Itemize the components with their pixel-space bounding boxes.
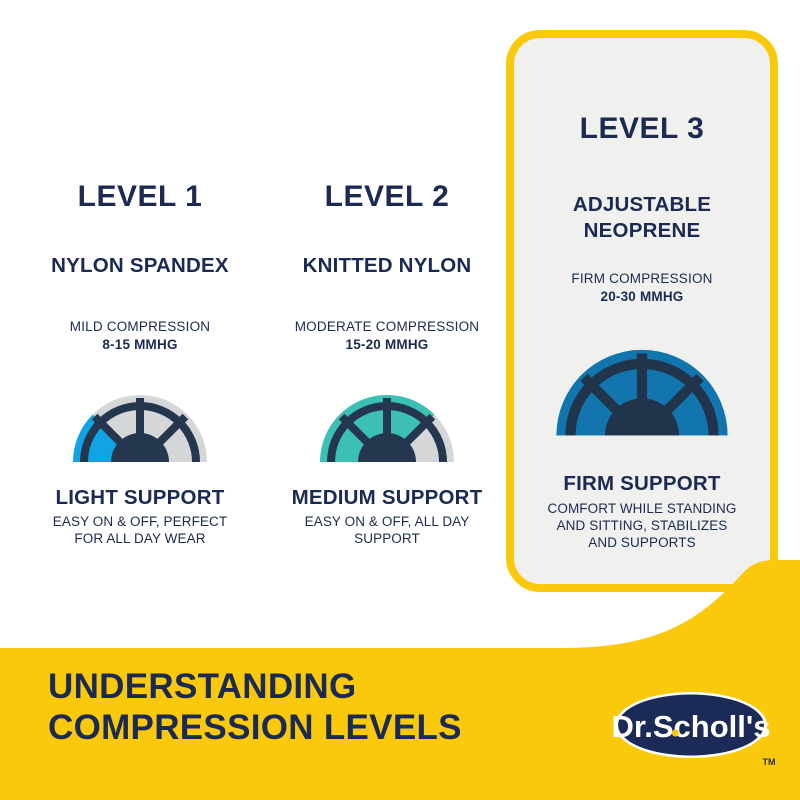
level-2-support-desc: EASY ON & OFF, ALL DAY SUPPORT <box>272 513 502 547</box>
level-2-title: LEVEL 2 <box>272 180 502 214</box>
logo-wordmark: Dr.Scholl's <box>612 709 770 744</box>
level-1-support-desc-line1: EASY ON & OFF, PERFECT <box>10 513 270 530</box>
banner-title-line2: COMPRESSION LEVELS <box>48 707 608 748</box>
dr-scholls-logo: Dr.Scholl's TM <box>612 690 780 768</box>
level-1-support-name: LIGHT SUPPORT <box>10 486 270 510</box>
level-2-compression-label: MODERATE COMPRESSION <box>272 318 502 336</box>
level-3-support-desc-line3: AND SUPPORTS <box>514 534 770 551</box>
level-1-support-desc: EASY ON & OFF, PERFECT FOR ALL DAY WEAR <box>10 513 270 547</box>
level-1-support-desc-line2: FOR ALL DAY WEAR <box>10 530 270 547</box>
gauge-3-baseline <box>556 435 727 438</box>
level-3-material-line1: ADJUSTABLE <box>514 193 770 217</box>
level-2-support-desc-line1: EASY ON & OFF, ALL DAY <box>272 513 502 530</box>
banner-title: UNDERSTANDING COMPRESSION LEVELS <box>48 666 608 748</box>
gauge-level-2 <box>320 392 454 464</box>
level-2-support-name: MEDIUM SUPPORT <box>272 486 502 510</box>
level-2-compression: MODERATE COMPRESSION 15-20 MMHG <box>272 318 502 354</box>
level-1-title: LEVEL 1 <box>10 180 270 214</box>
logo-yellow-dot <box>672 729 679 736</box>
level-2-compression-value: 15-20 MMHG <box>272 336 502 354</box>
level-3-compression-label: FIRM COMPRESSION <box>514 270 770 288</box>
level-1-compression-label: MILD COMPRESSION <box>10 318 270 336</box>
level-3-support-desc-line1: COMFORT WHILE STANDING <box>514 500 770 517</box>
level-1-material: NYLON SPANDEX <box>10 254 270 278</box>
level-3-title: LEVEL 3 <box>514 112 770 146</box>
level-1-compression: MILD COMPRESSION 8-15 MMHG <box>10 318 270 354</box>
gauge-level-3 <box>556 346 728 438</box>
level-3-compression: FIRM COMPRESSION 20-30 MMHG <box>514 270 770 306</box>
banner-title-line1: UNDERSTANDING <box>48 666 608 707</box>
level-2-material: KNITTED NYLON <box>272 254 502 278</box>
level-3-support-name: FIRM SUPPORT <box>514 472 770 496</box>
gauge-1-baseline <box>73 462 207 464</box>
level-3-support-desc-line2: AND SITTING, STABILIZES <box>514 517 770 534</box>
level-2-support-desc-line2: SUPPORT <box>272 530 502 547</box>
level-1-compression-value: 8-15 MMHG <box>10 336 270 354</box>
gauge-level-1 <box>73 392 207 464</box>
level-3-support-desc: COMFORT WHILE STANDING AND SITTING, STAB… <box>514 500 770 551</box>
infographic-canvas: LEVEL 1 NYLON SPANDEX MILD COMPRESSION 8… <box>0 0 800 800</box>
level-3-compression-value: 20-30 MMHG <box>514 288 770 306</box>
gauge-2-baseline <box>320 462 454 464</box>
logo-trademark: TM <box>763 757 776 767</box>
level-3-material-line2: NEOPRENE <box>514 219 770 243</box>
level-3-card[interactable]: LEVEL 3 ADJUSTABLE NEOPRENE FIRM COMPRES… <box>506 30 778 592</box>
